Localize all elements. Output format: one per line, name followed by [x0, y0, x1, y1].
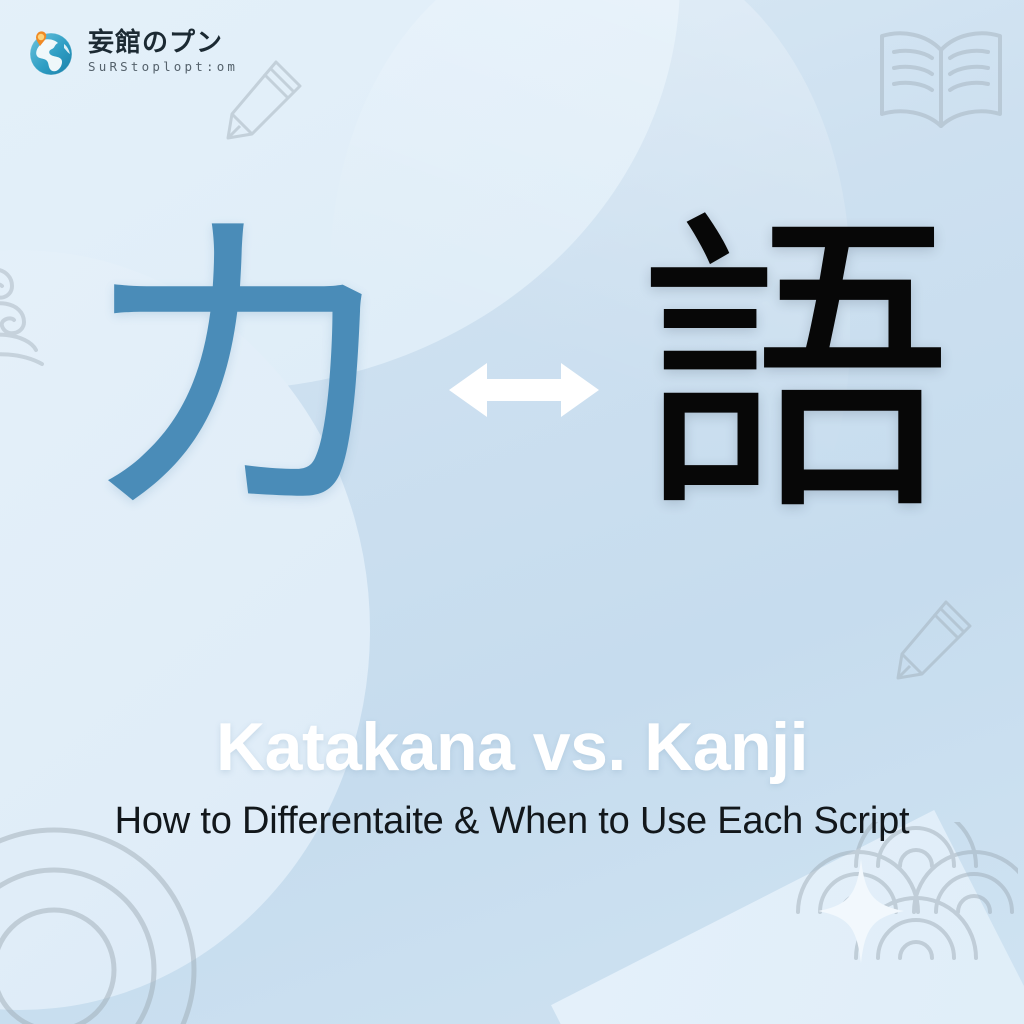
concentric-rings-icon	[0, 820, 204, 1024]
brand-name-roman: SuRStoplopt:om	[88, 61, 238, 74]
open-book-icon	[866, 14, 1016, 144]
kanji-character-go: 語	[637, 212, 953, 528]
hero-glyph-row: カ 語	[0, 190, 1024, 570]
brand-text: 妄館のプン SuRStoplopt:om	[88, 30, 238, 74]
sparkle-icon	[818, 859, 904, 968]
brand-name-jp: 妄館のプン	[88, 30, 238, 56]
page-title: Katakana vs. Kanji	[0, 712, 1024, 783]
poster-canvas: 妄館のプン SuRStoplopt:om カ 語 Katakana vs. Ka…	[0, 0, 1024, 1024]
title-block: Katakana vs. Kanji How to Differentaite …	[0, 712, 1024, 843]
brand-logo[interactable]: 妄館のプン SuRStoplopt:om	[24, 26, 238, 78]
globe-pin-icon	[24, 26, 76, 78]
pencil-icon-secondary	[884, 592, 980, 688]
katakana-character-ka: カ	[71, 204, 411, 544]
page-subtitle: How to Differentaite & When to Use Each …	[0, 801, 1024, 843]
double-arrow-icon	[449, 357, 599, 423]
